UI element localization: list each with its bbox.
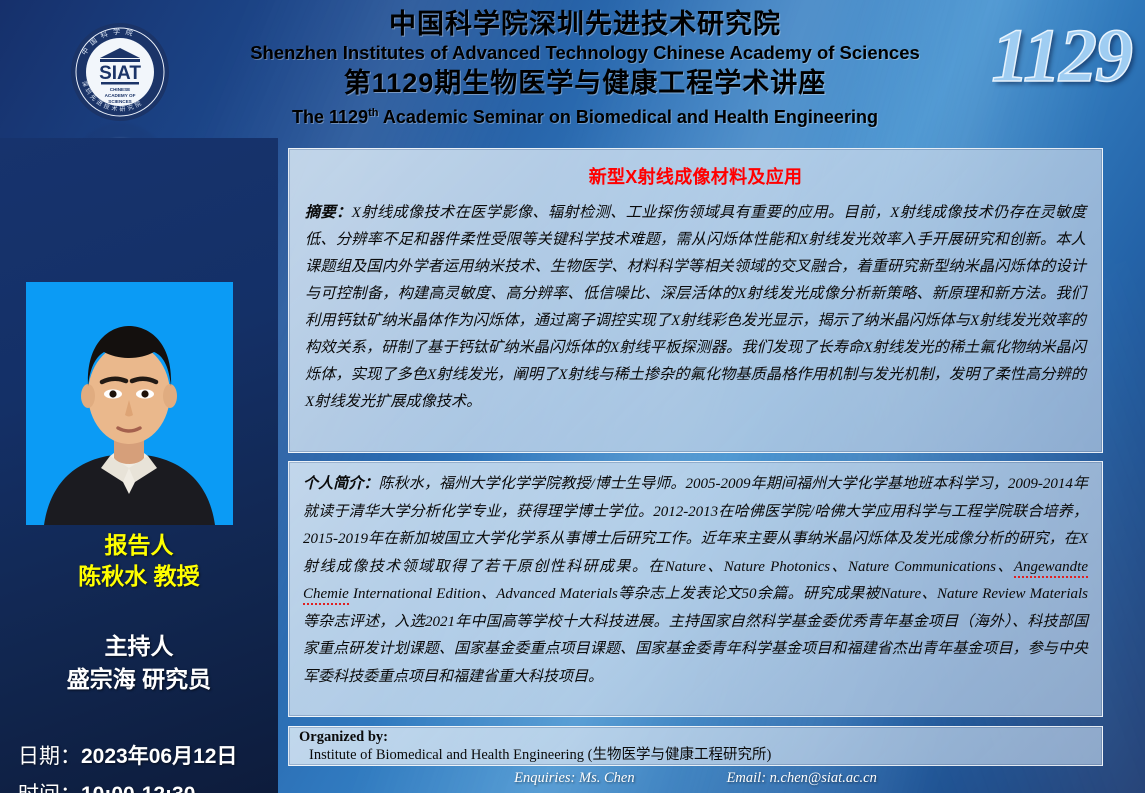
host-role-label: 主持人 bbox=[0, 630, 278, 663]
svg-text:CHINESE: CHINESE bbox=[110, 87, 130, 92]
date-value: 2023年06月12日 bbox=[81, 738, 237, 776]
seminar-poster: SIAT CHINESE ACADEMY OF SCIENCES 中国科学院 深… bbox=[0, 0, 1145, 793]
left-sidebar: 报告人 陈秋水 教授 主持人 盛宗海 研究员 日期： 2023年06月12日 时… bbox=[0, 138, 278, 793]
header-titles: 中国科学院深圳先进技术研究院 Shenzhen Institutes of Ad… bbox=[190, 8, 980, 130]
svg-text:SIAT: SIAT bbox=[99, 63, 141, 84]
poster-header: SIAT CHINESE ACADEMY OF SCIENCES 中国科学院 深… bbox=[0, 0, 1145, 138]
svg-text:SCIENCES: SCIENCES bbox=[108, 99, 132, 104]
svg-text:ACADEMY OF: ACADEMY OF bbox=[105, 93, 136, 98]
organizer-panel: Organized by: Institute of Biomedical an… bbox=[288, 726, 1103, 766]
enquiries-text: Enquiries: Ms. Chen bbox=[514, 770, 634, 787]
organizer-info: Organized by: Institute of Biomedical an… bbox=[289, 727, 1102, 765]
time-label: 时间： bbox=[18, 776, 81, 793]
host-info: 主持人 盛宗海 研究员 bbox=[0, 630, 278, 696]
contact-row: Enquiries: Ms. Chen Email: n.chen@siat.a… bbox=[288, 770, 1103, 787]
institute-name-en: Shenzhen Institutes of Advanced Technolo… bbox=[190, 40, 980, 66]
abstract-content: X射线成像技术在医学影像、辐射检测、工业探伤领域具有重要的应用。目前，X射线成像… bbox=[305, 204, 1086, 410]
biography-label: 个人简介： bbox=[303, 476, 379, 492]
biography-part-two: International Edition、Advanced Materials… bbox=[303, 586, 1088, 685]
seminar-en-ordinal: th bbox=[368, 107, 378, 119]
seminar-en-suffix: Academic Seminar on Biomedical and Healt… bbox=[378, 107, 877, 127]
abstract-label: 摘要： bbox=[305, 204, 352, 221]
biography-body: 个人简介：陈秋水，福州大学化学学院教授/博士生导师。2005-2009年期间福州… bbox=[289, 462, 1102, 691]
organizer-value: Institute of Biomedical and Health Engin… bbox=[299, 746, 1102, 765]
speaker-role-label: 报告人 bbox=[0, 530, 278, 561]
organizer-label: Organized by: bbox=[299, 729, 1102, 746]
abstract-body: 摘要：X射线成像技术在医学影像、辐射检测、工业探伤领域具有重要的应用。目前，X射… bbox=[289, 199, 1102, 415]
talk-title: 新型X射线成像材料及应用 bbox=[289, 163, 1102, 189]
abstract-panel: 新型X射线成像材料及应用 摘要：X射线成像技术在医学影像、辐射检测、工业探伤领域… bbox=[288, 148, 1103, 453]
host-name: 盛宗海 研究员 bbox=[0, 663, 278, 696]
seminar-title-cn: 第1129期生物医学与健康工程学术讲座 bbox=[190, 66, 980, 100]
speaker-photo bbox=[26, 282, 233, 525]
event-details: 日期： 2023年06月12日 时间： 10:00-12:30 地点： B619 bbox=[18, 738, 280, 793]
seminar-en-prefix: The 1129 bbox=[292, 107, 368, 127]
email-text: Email: n.chen@siat.ac.cn bbox=[727, 770, 877, 787]
biography-panel: 个人简介：陈秋水，福州大学化学学院教授/博士生导师。2005-2009年期间福州… bbox=[288, 461, 1103, 717]
detail-row-time: 时间： 10:00-12:30 bbox=[18, 776, 280, 793]
time-value: 10:00-12:30 bbox=[81, 776, 195, 793]
detail-row-date: 日期： 2023年06月12日 bbox=[18, 738, 280, 776]
institute-name-cn: 中国科学院深圳先进技术研究院 bbox=[190, 8, 980, 40]
speaker-info: 报告人 陈秋水 教授 bbox=[0, 530, 278, 592]
siat-logo-icon: SIAT CHINESE ACADEMY OF SCIENCES 中国科学院 深… bbox=[70, 22, 170, 122]
speaker-name: 陈秋水 教授 bbox=[0, 561, 278, 592]
biography-part-one: 陈秋水，福州大学化学学院教授/博士生导师。2005-2009年期间福州大学化学基… bbox=[303, 476, 1088, 575]
seminar-title-en: The 1129th Academic Seminar on Biomedica… bbox=[190, 100, 980, 130]
date-label: 日期： bbox=[18, 738, 81, 776]
speaker-portrait-icon bbox=[26, 282, 233, 525]
siat-logo: SIAT CHINESE ACADEMY OF SCIENCES 中国科学院 深… bbox=[70, 22, 170, 122]
issue-number-watermark: 1129 bbox=[991, 18, 1131, 94]
